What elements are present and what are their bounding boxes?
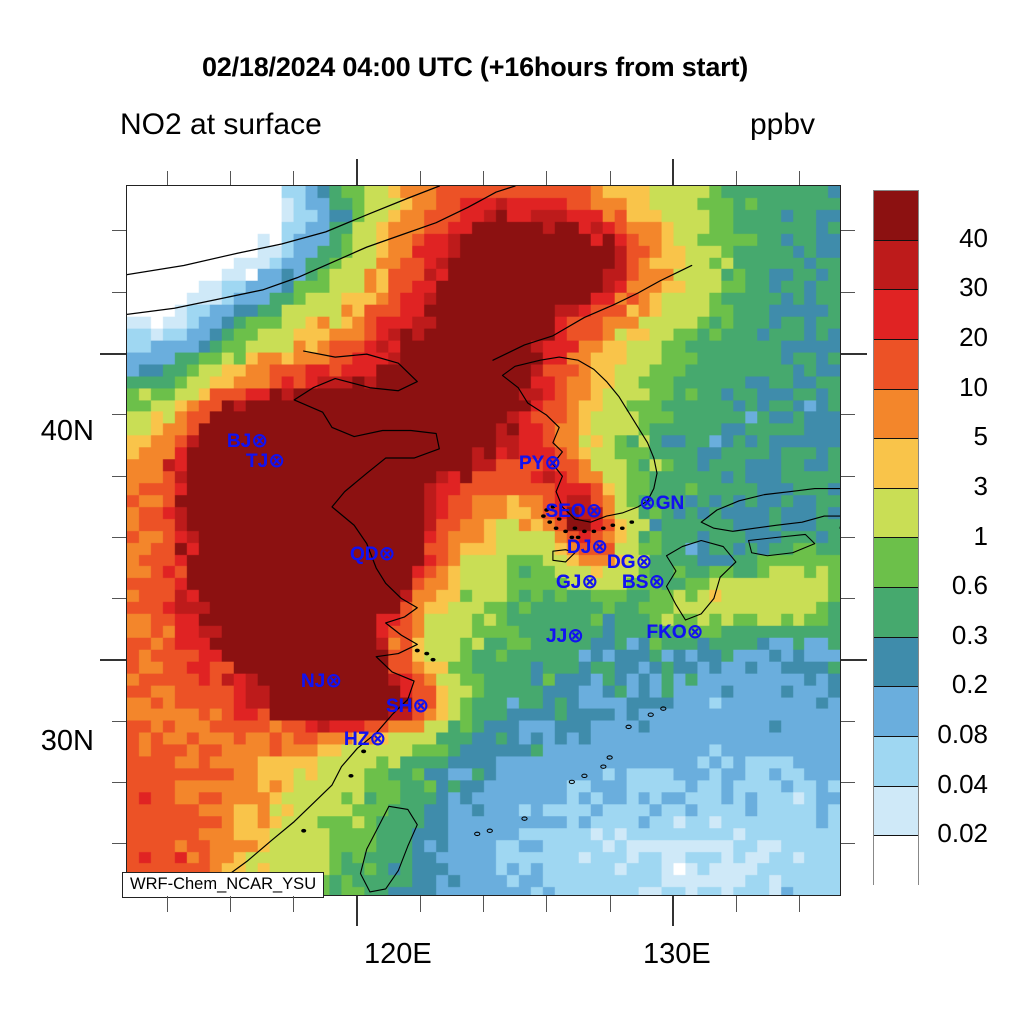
- ytick-right-30N: [841, 659, 867, 661]
- city-label-gj: GJ: [556, 572, 581, 593]
- xtick-top-120E: [356, 159, 358, 185]
- colorbar-band-0: [874, 191, 918, 241]
- city-label-bj: BJ: [227, 431, 251, 452]
- city-label-bs: BS: [622, 572, 648, 593]
- city-marker-jj[interactable]: JJ⊗: [546, 626, 584, 646]
- colorbar-tick-0.6: 0.6: [952, 570, 988, 601]
- figure-title: 02/18/2024 04:00 UTC (+16hours from star…: [0, 52, 950, 83]
- crossed-circle-icon: ⊗: [639, 492, 656, 514]
- city-marker-nj[interactable]: NJ⊗: [301, 671, 342, 691]
- y-axis-label-30N: 30N: [41, 725, 94, 758]
- colorbar-band-2: [874, 290, 918, 340]
- xtick-top-132E: [736, 171, 737, 185]
- figure-canvas: 02/18/2024 04:00 UTC (+16hours from star…: [0, 0, 1024, 1024]
- city-label-jj: JJ: [546, 626, 567, 647]
- city-marker-bs[interactable]: BS⊗: [622, 572, 665, 592]
- crossed-circle-icon: ⊗: [648, 571, 665, 593]
- city-marker-gj[interactable]: GJ⊗: [556, 572, 598, 592]
- ytick-42N: [112, 292, 126, 293]
- colorbar-band-6: [874, 489, 918, 539]
- city-marker-tj[interactable]: TJ⊗: [246, 451, 285, 471]
- colorbar-tick-0.02: 0.02: [937, 818, 988, 849]
- city-label-dg: DG: [607, 552, 636, 573]
- variable-label: NO2 at surface: [120, 108, 322, 142]
- xtick-134E: [799, 896, 800, 912]
- xtick-132E: [736, 896, 737, 912]
- x-axis-label-130E: 130E: [643, 938, 711, 971]
- ytick-36N: [112, 476, 126, 477]
- ytick-26N: [112, 782, 126, 783]
- city-marker-dj[interactable]: DJ⊗: [567, 537, 608, 557]
- city-marker-qd[interactable]: QD⊗: [350, 544, 395, 564]
- xtick-116E: [230, 896, 231, 912]
- model-tag: WRF-Chem_NCAR_YSU: [122, 872, 324, 898]
- xtick-114E: [167, 896, 168, 912]
- city-label-sh: SH: [386, 696, 412, 717]
- colorbar-band-8: [874, 588, 918, 638]
- colorbar-band-5: [874, 439, 918, 489]
- crossed-circle-icon: ⊗: [687, 621, 704, 643]
- crossed-circle-icon: ⊗: [369, 728, 386, 750]
- ytick-right-28N: [841, 721, 855, 722]
- colorbar-tick-1: 1: [974, 521, 988, 552]
- ytick-30N: [100, 659, 126, 661]
- y-axis-label-40N: 40N: [41, 415, 94, 448]
- ytick-38N: [112, 414, 126, 415]
- crossed-circle-icon: ⊗: [581, 571, 598, 593]
- ytick-right-38N: [841, 414, 855, 415]
- ytick-right-42N: [841, 292, 855, 293]
- colorbar-band-1: [874, 241, 918, 291]
- colorbar-tick-0.3: 0.3: [952, 620, 988, 651]
- colorbar-tick-20: 20: [959, 322, 988, 353]
- ytick-44N: [112, 230, 126, 231]
- ytick-right-34N: [841, 537, 855, 538]
- xtick-top-130E: [672, 159, 674, 185]
- city-label-hz: HZ: [344, 729, 369, 750]
- ytick-right-36N: [841, 476, 855, 477]
- city-label-py: PY: [519, 453, 544, 474]
- colorbar-band-7: [874, 538, 918, 588]
- colorbar-band-10: [874, 687, 918, 737]
- ytick-32N: [112, 598, 126, 599]
- ytick-34N: [112, 537, 126, 538]
- colorbar-tick-30: 30: [959, 272, 988, 303]
- ytick-right-24N: [841, 843, 855, 844]
- colorbar-band-4: [874, 390, 918, 440]
- crossed-circle-icon: ⊗: [412, 695, 429, 717]
- city-label-tj: TJ: [246, 451, 268, 472]
- crossed-circle-icon: ⊗: [544, 452, 561, 474]
- colorbar-tick-0.08: 0.08: [937, 719, 988, 750]
- xtick-124E: [483, 896, 484, 912]
- city-marker-fko[interactable]: FKO⊗: [647, 622, 704, 642]
- xtick-120E: [356, 896, 358, 926]
- colorbar-tick-3: 3: [974, 471, 988, 502]
- colorbar-tick-0.2: 0.2: [952, 669, 988, 700]
- city-label-gn: GN: [656, 493, 685, 514]
- xtick-128E: [610, 896, 611, 912]
- colorbar-tick-5: 5: [974, 421, 988, 452]
- crossed-circle-icon: ⊗: [636, 551, 653, 573]
- x-axis-label-120E: 120E: [364, 938, 432, 971]
- city-marker-dg[interactable]: DG⊗: [607, 552, 652, 572]
- crossed-circle-icon: ⊗: [251, 430, 268, 452]
- city-marker-gn[interactable]: ⊗GN: [639, 493, 684, 513]
- crossed-circle-icon: ⊗: [591, 536, 608, 558]
- crossed-circle-icon: ⊗: [586, 500, 603, 522]
- crossed-circle-icon: ⊗: [567, 625, 584, 647]
- city-marker-hz[interactable]: HZ⊗: [344, 729, 386, 749]
- ytick-right-44N: [841, 230, 855, 231]
- xtick-118E: [293, 896, 294, 912]
- city-label-nj: NJ: [301, 671, 325, 692]
- colorbar[interactable]: [873, 190, 919, 885]
- city-label-fko: FKO: [647, 622, 687, 643]
- xtick-top-124E: [483, 171, 484, 185]
- xtick-top-128E: [610, 171, 611, 185]
- xtick-top-118E: [293, 171, 294, 185]
- city-label-dj: DJ: [567, 537, 591, 558]
- city-marker-py[interactable]: PY⊗: [519, 453, 561, 473]
- colorbar-tick-40: 40: [959, 223, 988, 254]
- units-label: ppbv: [750, 108, 815, 142]
- city-marker-sh[interactable]: SH⊗: [386, 696, 429, 716]
- xtick-122E: [420, 896, 421, 912]
- xtick-top-122E: [420, 171, 421, 185]
- crossed-circle-icon: ⊗: [325, 670, 342, 692]
- ytick-right-26N: [841, 782, 855, 783]
- ytick-28N: [112, 721, 126, 722]
- colorbar-band-3: [874, 340, 918, 390]
- ytick-40N: [100, 353, 126, 355]
- colorbar-tick-10: 10: [959, 372, 988, 403]
- xtick-top-116E: [230, 171, 231, 185]
- ytick-right-32N: [841, 598, 855, 599]
- crossed-circle-icon: ⊗: [379, 543, 396, 565]
- colorbar-band-11: [874, 737, 918, 787]
- colorbar-band-9: [874, 638, 918, 688]
- xtick-top-134E: [799, 171, 800, 185]
- xtick-130E: [672, 896, 674, 926]
- xtick-top-114E: [167, 171, 168, 185]
- colorbar-band-13: [874, 836, 918, 886]
- coastline-overlay: [127, 186, 840, 895]
- city-label-qd: QD: [350, 544, 379, 565]
- city-marker-bj[interactable]: BJ⊗: [227, 431, 268, 451]
- xtick-126E: [546, 896, 547, 912]
- city-marker-seo[interactable]: SEO⊗: [546, 501, 603, 521]
- city-label-seo: SEO: [546, 501, 586, 522]
- crossed-circle-icon: ⊗: [268, 450, 285, 472]
- xtick-top-126E: [546, 171, 547, 185]
- colorbar-band-12: [874, 787, 918, 837]
- ytick-24N: [112, 843, 126, 844]
- ytick-right-40N: [841, 353, 867, 355]
- colorbar-tick-0.04: 0.04: [937, 769, 988, 800]
- map-plot-area[interactable]: [126, 185, 841, 896]
